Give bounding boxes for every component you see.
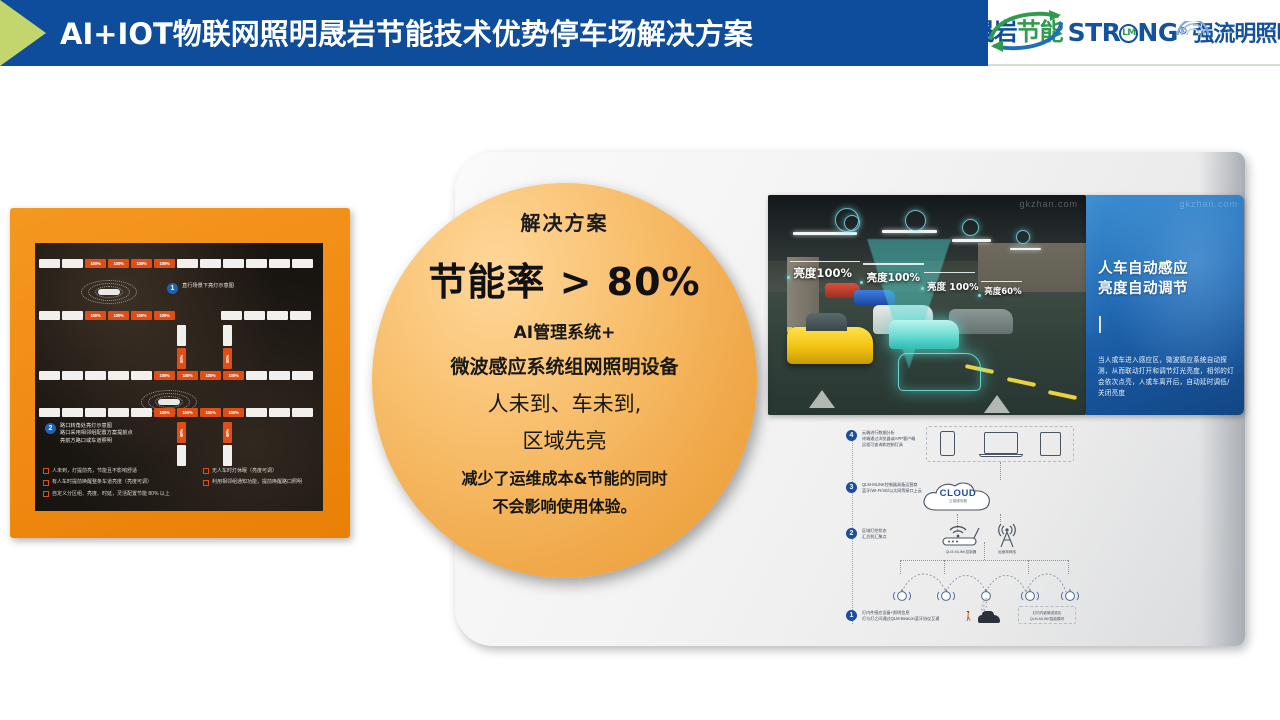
lamp-cell-vertical-active: 60%: [177, 422, 186, 443]
lamp-cell: [292, 259, 313, 268]
parked-car-yellow: [787, 327, 873, 364]
legend-row: 有人车时提前唤醒整条车道亮度（亮度可调） 利用相邻组通知功能，提前唤醒路口照明: [43, 479, 315, 486]
connector-line: [1000, 462, 1001, 480]
callout-number: 1: [167, 283, 178, 294]
connector-line: [984, 542, 985, 560]
step-number: 4: [846, 430, 857, 441]
oval-heading: 解决方案: [521, 207, 609, 236]
garage-scene: 亮度100% 亮度100% 亮度 100% 亮度60% gkzhan.com: [768, 195, 1086, 415]
lamp-cell: [292, 408, 313, 417]
lamp-module-note: 灯内内嵌微波感应 QLM-MLINK智能模块: [1018, 606, 1076, 624]
callout-number: 2: [45, 423, 56, 434]
legend-label: 人未到，灯提前亮，节能且不影响舒适: [52, 468, 137, 475]
vehicle-sensor-zone-1: [80, 279, 138, 305]
car-icon: [98, 289, 120, 295]
legend-item: 自定义分区组、亮度、时延，灵活配置节能 80% 以上: [43, 491, 170, 498]
garage-photo: 亮度100% 亮度100% 亮度 100% 亮度60% gkzhan.com: [768, 195, 1086, 415]
legend-label: 无人车时灯休眠（亮度可调）: [212, 468, 277, 475]
lamp-cell: [269, 371, 290, 380]
step-line-2: 蓝牙/WI-FI/4G/以太网等接口上云: [862, 488, 922, 494]
lamp-cell: [62, 259, 83, 268]
diagram-legend: 人未到，灯提前亮，节能且不影响舒适 无人车时灯休眠（亮度可调） 有人车时提前唤醒…: [43, 468, 315, 503]
lamp-cell-active: 100%: [154, 371, 175, 380]
oval-line-6: 不会影响使用体验。: [492, 493, 636, 517]
legend-label: 有人车时提前唤醒整条车道亮度（亮度可调）: [52, 479, 152, 486]
logo-name-dark: 晟岩: [971, 18, 1017, 46]
step-text-block: QLM-MLINK控制器具备运营商 蓝牙/WI-FI/4G/以太网等接口上云: [862, 482, 922, 494]
lamp-cell-vertical-active: 60%: [223, 422, 232, 443]
legend-row: 自定义分区组、亮度、时延，灵活配置节能 80% 以上: [43, 491, 315, 498]
lamp-cell-vertical: [223, 445, 232, 466]
lamp-lane-row3b: 100%: [223, 371, 315, 380]
lamp-cell: [292, 371, 313, 380]
lamp-sensor-ring: [905, 210, 926, 231]
cloud-sublabel: 云端服务器: [932, 499, 984, 504]
oval-line-2: 微波感应系统组网照明设备: [450, 352, 678, 379]
network-step-1: 1 灯内件感应设备+照明信息 灯与灯之间通过QLM-Beacon蓝牙协议互通: [846, 610, 939, 622]
lamp-cell-vertical-active: 60%: [177, 348, 186, 369]
lamp-cell-active: 100%: [108, 311, 129, 320]
legend-row: 人未到，灯提前亮，节能且不影响舒适 无人车时灯休眠（亮度可调）: [43, 468, 315, 475]
lamp-cell-active: 100%: [200, 408, 221, 417]
blue-panel-title-line-1: 人车自动感应: [1098, 259, 1188, 279]
car-icon: [158, 399, 180, 405]
step-line-2: 灯与灯之间通过QLM-Beacon蓝牙协议互通: [862, 616, 939, 622]
iot-network-diagram: 4 云端进行数据分析 终端通过浏览器或APP客户端 远程可查询和控制灯具 CLO…: [832, 424, 1084, 636]
callout-line-2: 路口采用相邻组配置方案提前点: [60, 430, 133, 437]
legend-item: 无人车时灯休眠（亮度可调）: [203, 468, 277, 475]
step-line-2: 汇总到汇聚点: [862, 534, 887, 540]
legend-marker-icon: [43, 491, 49, 497]
step-number: 2: [846, 528, 857, 539]
lamp-cell: [246, 408, 267, 417]
oval-line-4: 区域先亮: [523, 425, 607, 455]
smartphone-icon: [940, 431, 955, 456]
step-text-block: 云端进行数据分析 终端通过浏览器或APP客户端 远程可查询和控制灯具: [862, 430, 915, 448]
lamp-cell: [39, 259, 60, 268]
lamp-cell: [108, 371, 129, 380]
lamp-lane-row2: 100% 100% 100% 100%: [39, 311, 177, 320]
ceiling-lamp-bar: [952, 239, 990, 242]
lamp-cell-active: 100%: [200, 371, 221, 380]
lamp-cell: [200, 259, 221, 268]
lamp-cell: [269, 408, 290, 417]
oval-line-1: AI管理系统+: [514, 318, 616, 343]
feature-blue-panel: gkzhan.com 人车自动感应 亮度自动调节 当人或车进入感应区，微波感应系…: [1086, 195, 1244, 415]
smart-lamp-node-icon: [936, 588, 956, 602]
lamp-cell: [269, 259, 290, 268]
cloud-label: CLOUD: [932, 488, 984, 499]
tag-dot: [978, 294, 981, 297]
blue-panel-title: 人车自动感应 亮度自动调节: [1098, 259, 1188, 299]
oval-line-3: 人未到、车未到,: [488, 388, 642, 418]
wifi-router-icon: [940, 520, 982, 548]
logo-strong-suffix: NG: [1137, 20, 1177, 45]
lamp-cell: [244, 311, 265, 320]
lamp-cell: [246, 371, 267, 380]
parking-lamp-diagram: 100% 100% 100% 100% 1 直行场景下亮灯示意图: [35, 243, 323, 511]
callout-text-block: 路口转角处亮灯示意图 路口采用相邻组配置方案提前点 亮前方路口或车道照明: [60, 423, 133, 445]
chevron-right-icon: [0, 0, 46, 66]
step-text-block: 区域灯控状态 汇总到汇聚点: [862, 528, 887, 540]
laptop-base-icon: [979, 454, 1023, 457]
lamp-cell: [85, 408, 106, 417]
page-header: AI+IOT物联网照明晟岩节能技术优势停车场解决方案 晟岩节能 STRLMNG®…: [0, 0, 1280, 66]
lamp-cell-active: 100%: [154, 311, 175, 320]
lamp-cell: [39, 311, 60, 320]
tower-label: 运营商网络: [982, 550, 1032, 555]
logo-name-green: 节能: [1017, 18, 1063, 46]
blue-panel-body: 当人或车进入感应区，微波感应系统自动探测，从而联动打开和调节灯光亮度，相邻的灯会…: [1098, 355, 1234, 399]
lamp-cell: [62, 408, 83, 417]
oval-line-5: 减少了运维成本&节能的同时: [462, 465, 668, 489]
callout-line-3: 亮前方路口或车道照明: [60, 438, 133, 445]
network-step-2: 2 区域灯控状态 汇总到汇聚点: [846, 528, 887, 540]
lamp-cell-active: 100%: [85, 259, 106, 268]
signal-arc-icon: [1176, 21, 1210, 36]
lamp-cell: [246, 259, 267, 268]
tag-leader-line: [790, 261, 860, 262]
legend-item: 利用相邻组通知功能，提前唤醒路口照明: [203, 479, 302, 486]
lamp-cell: [221, 311, 242, 320]
illuminated-car: [889, 320, 959, 349]
tag-leader-line: [981, 281, 1022, 282]
lamp-cell-vertical: [223, 325, 232, 346]
lamp-cell: [62, 311, 83, 320]
legend-label: 利用相邻组通知功能，提前唤醒路口照明: [212, 479, 302, 486]
brightness-tag-2: 亮度100%: [867, 270, 920, 285]
lamp-cell-vertical: [177, 325, 186, 346]
lamp-sensor-ring: [844, 215, 860, 231]
lamp-cell: [131, 408, 152, 417]
lamp-cell: [39, 371, 60, 380]
lamp-lane-row1: 100% 100% 100% 100%: [39, 259, 315, 268]
parking-layout-card: 100% 100% 100% 100% 1 直行场景下亮灯示意图: [10, 208, 350, 538]
logo-chinese-name: 晟岩节能: [971, 20, 1063, 44]
lamp-cell: [177, 259, 198, 268]
note-line-2: QLM-MLINK智能模块: [1019, 616, 1075, 622]
legend-item: 有人车时提前唤醒整条车道亮度（亮度可调）: [43, 479, 203, 486]
legend-marker-icon: [43, 480, 49, 486]
callout-text: 直行场景下亮灯示意图: [182, 283, 234, 290]
tag-leader-line: [863, 263, 923, 264]
blue-panel-divider: [1099, 316, 1101, 333]
floor-arrow-icon: [984, 395, 1010, 413]
legend-marker-icon: [203, 480, 209, 486]
lamp-lane-row3: 100% 100% 100%: [39, 371, 223, 380]
legend-label: 自定义分区组、亮度、时延，灵活配置节能 80% 以上: [52, 491, 170, 498]
lamp-lane-row4b: 100%: [223, 408, 315, 417]
diagram-timeline-axis: [852, 430, 853, 624]
lamp-cell-active: 100%: [85, 311, 106, 320]
legend-marker-icon: [43, 468, 49, 474]
brightness-tag-1: 亮度100%: [793, 265, 852, 281]
light-beam-cone: [867, 239, 951, 369]
smart-lamp-node-icon: [1020, 588, 1040, 602]
step-number: 3: [846, 482, 857, 493]
vehicle-icon: [978, 615, 1000, 623]
mesh-bus-line: [900, 560, 1068, 561]
diagram-callout-2: 2 路口转角处亮灯示意图 路口采用相邻组配置方案提前点 亮前方路口或车道照明: [45, 423, 133, 445]
hologram-car-outline: [898, 353, 981, 390]
legend-item: 人未到，灯提前亮，节能且不影响舒适: [43, 468, 203, 475]
lamp-cell-active: 100%: [108, 259, 129, 268]
tablet-icon: [1040, 432, 1061, 456]
lamp-cell: [131, 371, 152, 380]
step-text-block: 灯内件感应设备+照明信息 灯与灯之间通过QLM-Beacon蓝牙协议互通: [862, 610, 939, 622]
lamp-cell: [108, 408, 129, 417]
logo-strong-prefix: STR: [1068, 20, 1121, 45]
smart-lamp-node-icon: [1060, 588, 1080, 602]
step-number: 1: [846, 610, 857, 621]
legend-marker-icon: [203, 468, 209, 474]
laptop-screen-icon: [984, 432, 1018, 454]
lamp-lane-row2b: [221, 311, 313, 320]
lamp-cell-active: 100%: [223, 408, 244, 417]
solution-highlight-oval: 解决方案 节能率 > 80% AI管理系统+ 微波感应系统组网照明设备 人未到、…: [372, 183, 757, 578]
lamp-lane-row4: 100% 100% 100%: [39, 408, 223, 417]
lamp-cell-vertical-active: 60%: [223, 348, 232, 369]
pedestrian-icon: 🚶: [963, 612, 974, 621]
diagram-callout-1: 1 直行场景下亮灯示意图: [167, 283, 234, 294]
lamp-cell: [39, 408, 60, 417]
ceiling-lamp-bar: [1010, 248, 1042, 251]
brightness-tag-4: 亮度60%: [984, 285, 1021, 297]
logo-lm-badge: LM: [1119, 24, 1138, 43]
blue-panel-title-line-2: 亮度自动调节: [1098, 279, 1188, 299]
tag-leader-line: [924, 272, 975, 273]
lamp-cell-active: 100%: [131, 259, 152, 268]
company-logo: 晟岩节能 STRLMNG® 强流明照明: [988, 0, 1280, 66]
lamp-cell-active: 100%: [223, 371, 244, 380]
lamp-cell: [223, 259, 244, 268]
brightness-tag-3: 亮度 100%: [927, 279, 979, 293]
cell-tower-icon: [992, 520, 1022, 548]
logo-strong-wordmark: STRLMNG®: [1068, 20, 1188, 45]
smart-lamp-node-icon: [892, 588, 912, 602]
ceiling-lamp-bar: [882, 230, 936, 233]
energy-saving-rate: 节能率 > 80%: [428, 251, 700, 306]
lamp-cell: [267, 311, 288, 320]
parked-car-grey: [949, 309, 1013, 333]
network-step-4: 4 云端进行数据分析 终端通过浏览器或APP客户端 远程可查询和控制灯具: [846, 430, 915, 448]
lamp-cell: [62, 371, 83, 380]
floor-arrow-icon: [809, 390, 835, 408]
lamp-cell: [85, 371, 106, 380]
network-step-3: 3 QLM-MLINK控制器具备运营商 蓝牙/WI-FI/4G/以太网等接口上云: [846, 482, 922, 494]
lamp-cell-active: 100%: [154, 408, 175, 417]
lamp-cell-active: 100%: [154, 259, 175, 268]
lamp-cell-vertical: [177, 445, 186, 466]
tag-dot: [860, 281, 863, 284]
lamp-cell-active: 100%: [177, 371, 198, 380]
garage-watermark: gkzhan.com: [1019, 199, 1078, 209]
ceiling-lamp-bar: [793, 232, 857, 235]
blue-panel-watermark: gkzhan.com: [1179, 199, 1238, 209]
step-line-3: 远程可查询和控制灯具: [862, 442, 915, 448]
page-title: AI+IOT物联网照明晟岩节能技术优势停车场解决方案: [60, 11, 753, 53]
lamp-cell-active: 100%: [177, 408, 198, 417]
lamp-cell: [290, 311, 311, 320]
lamp-cell-active: 100%: [131, 311, 152, 320]
